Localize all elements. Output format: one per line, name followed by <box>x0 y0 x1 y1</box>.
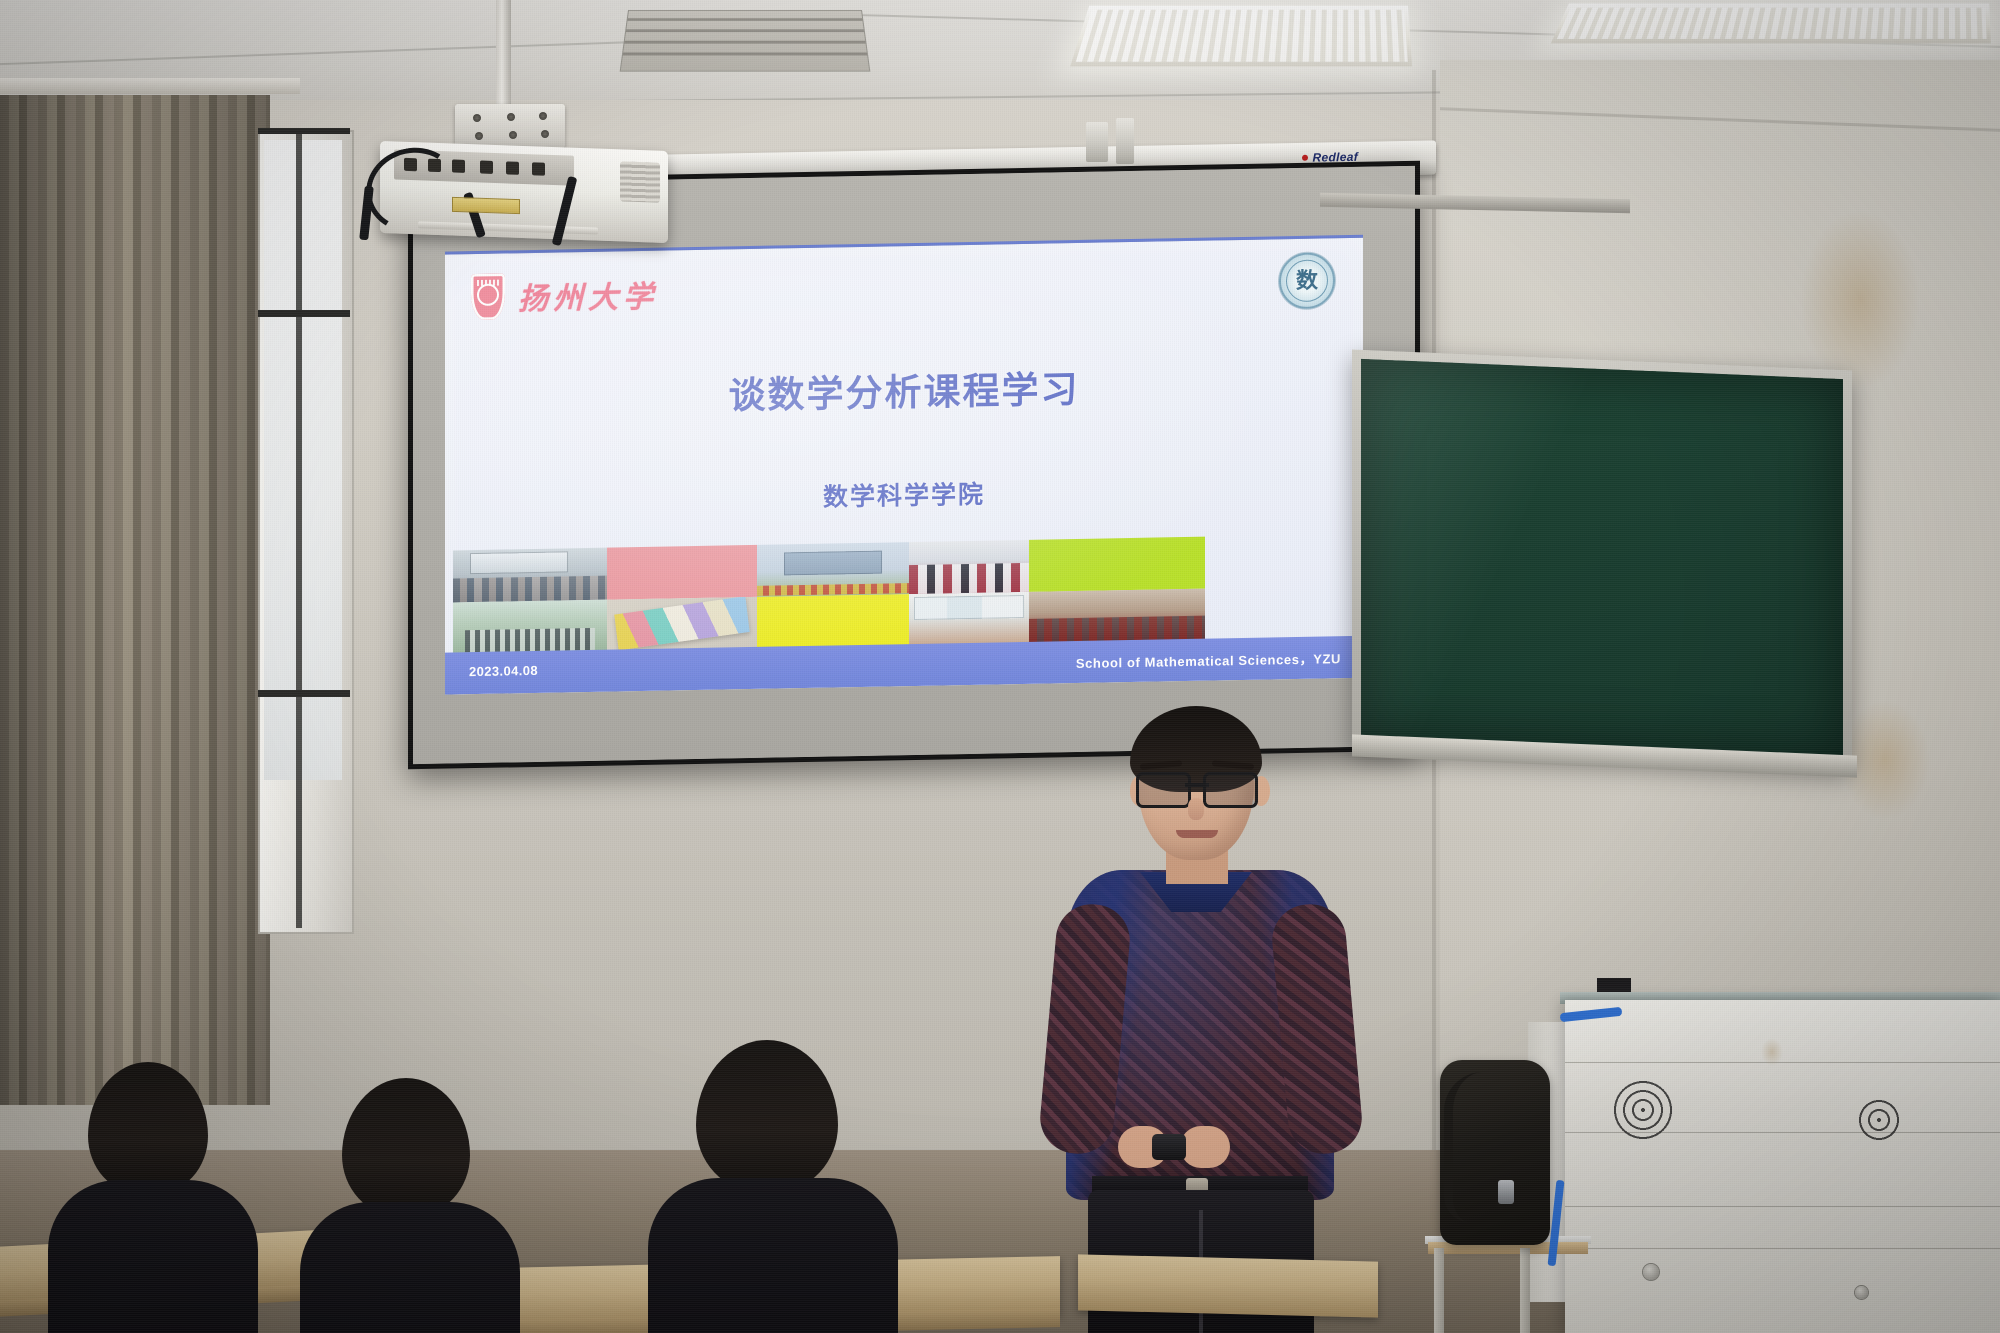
university-wordmark: 扬州大学 <box>518 272 658 319</box>
lecturer-mouth <box>1176 830 1218 838</box>
av-equipment-cabinet[interactable] <box>1565 1000 2000 1333</box>
green-chalkboard[interactable] <box>1352 350 1852 771</box>
classroom-photo-scene: Redleaf 扬州大学 数 谈数学分析课程学习 数 <box>0 0 2000 1333</box>
projector-lens-base <box>418 221 598 234</box>
projected-slide: 扬州大学 数 谈数学分析课程学习 数学科学学院 2023.04.08 Schoo… <box>445 235 1363 695</box>
student-silhouette-2 <box>300 1078 520 1333</box>
cabinet-lock-icon[interactable] <box>1643 1264 1659 1280</box>
slide-organization: School of Mathematical Sciences，YZU <box>1076 648 1341 672</box>
cabinet-speaker-grille <box>1855 1096 1903 1144</box>
window-glass <box>264 140 342 780</box>
photo-collage-strip <box>453 534 1363 655</box>
slide-title: 谈数学分析课程学习 <box>445 354 1363 425</box>
screen-mount-bracket <box>1116 118 1134 164</box>
projector-mount-plate <box>455 104 565 148</box>
green-color-block <box>1029 537 1205 592</box>
slide-subtitle: 数学科学学院 <box>445 468 1363 521</box>
journals-books-photo <box>607 597 757 652</box>
fluorescent-ceiling-light <box>1551 4 1991 44</box>
eyeglass-lens <box>1136 772 1191 808</box>
wall-stain <box>1800 210 1920 390</box>
window-mullion <box>258 690 350 697</box>
student-silhouette-1 <box>48 1062 258 1333</box>
screen-mount-bracket <box>1086 122 1108 162</box>
eyeglass-lens <box>1203 772 1258 808</box>
yellow-color-block <box>757 594 909 649</box>
collage-column <box>453 548 607 655</box>
university-lockup: 扬州大学 <box>471 271 658 320</box>
lecturer-nose <box>1188 798 1204 820</box>
backpack-strap <box>1444 1072 1483 1222</box>
fluorescent-ceiling-light <box>1070 6 1412 67</box>
slide-date: 2023.04.08 <box>469 663 538 679</box>
backpack-buckle <box>1498 1180 1514 1204</box>
curtain-shading <box>0 95 270 1105</box>
classroom-seminar-photo <box>453 548 607 603</box>
lecturer-hand <box>1180 1126 1230 1168</box>
cabinet-lock-icon[interactable] <box>1855 1286 1868 1299</box>
collage-column <box>1029 537 1205 644</box>
student-silhouette-3 <box>648 1040 898 1333</box>
yzu-crest-icon <box>471 273 505 320</box>
conference-hall-photo <box>1029 589 1205 644</box>
motorized-projection-screen[interactable]: 扬州大学 数 谈数学分析课程学习 数学科学学院 2023.04.08 Schoo… <box>408 161 1420 770</box>
student-desk <box>1078 1254 1378 1317</box>
chalkboard-surface <box>1361 359 1843 761</box>
window-mullion <box>258 128 350 134</box>
equipment-warning-label <box>452 197 520 214</box>
cabinet-speaker-grille <box>1613 1080 1673 1140</box>
ceiling-air-vent <box>620 10 871 72</box>
screen-surface: 扬州大学 数 谈数学分析课程学习 数学科学学院 2023.04.08 Schoo… <box>413 166 1415 764</box>
curtain-rod <box>0 78 300 94</box>
award-ceremony-photo <box>909 540 1029 594</box>
group-outdoor-photo <box>453 600 607 655</box>
chalkboard-sheen <box>1361 359 1843 761</box>
projector-vent <box>620 161 660 202</box>
collage-column <box>607 545 757 652</box>
presentation-clicker[interactable] <box>1152 1134 1186 1160</box>
poster-session-photo <box>909 592 1029 646</box>
window-mullion <box>258 310 350 317</box>
window-mullion <box>296 128 302 928</box>
projector-mount-pole <box>496 0 511 108</box>
pink-color-block <box>607 545 757 600</box>
lecturer-presenting <box>1040 690 1360 1333</box>
table-leg <box>1520 1248 1530 1333</box>
campus-building-photo <box>757 542 909 597</box>
collage-column <box>909 540 1029 646</box>
cabinet-scuff <box>1761 1038 1783 1066</box>
table-leg <box>1434 1248 1444 1333</box>
school-emblem-icon: 数 <box>1279 252 1335 309</box>
collage-column <box>757 542 909 649</box>
